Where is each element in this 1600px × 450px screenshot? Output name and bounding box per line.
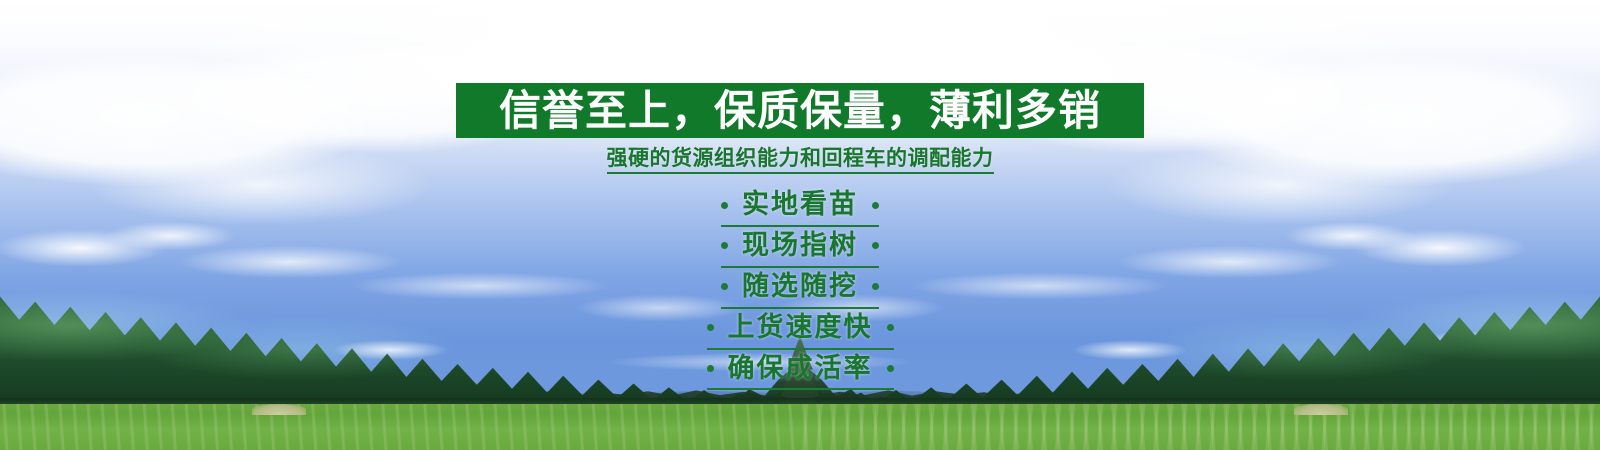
bullet-dot-icon bbox=[721, 283, 728, 290]
bullet-dot-icon bbox=[707, 365, 714, 372]
feature-list: 实地看苗 现场指树 随选随挖 上货速度快 确保成活率 bbox=[707, 186, 894, 390]
promo-banner: 信誉至上，保质保量，薄利多销 强硬的货源组织能力和回程车的调配能力 实地看苗 现… bbox=[0, 0, 1600, 450]
bullet-dot-icon bbox=[872, 283, 879, 290]
bullet-dot-icon bbox=[872, 202, 879, 209]
feature-item: 实地看苗 bbox=[721, 186, 879, 227]
headline-banner: 信誉至上，保质保量，薄利多销 bbox=[456, 83, 1144, 138]
bullet-dot-icon bbox=[872, 242, 879, 249]
bullet-dot-icon bbox=[721, 202, 728, 209]
bullet-dot-icon bbox=[887, 365, 894, 372]
bullet-dot-icon bbox=[721, 242, 728, 249]
feature-item: 现场指树 bbox=[721, 227, 879, 268]
feature-label: 实地看苗 bbox=[742, 189, 858, 221]
headline-text: 信誉至上，保质保量，薄利多销 bbox=[499, 90, 1101, 132]
feature-label: 确保成活率 bbox=[728, 353, 873, 385]
bullet-dot-icon bbox=[707, 324, 714, 331]
subtitle-underline-wrap: 强硬的货源组织能力和回程车的调配能力 bbox=[607, 147, 994, 174]
feature-label: 上货速度快 bbox=[728, 312, 873, 344]
subtitle-text: 强硬的货源组织能力和回程车的调配能力 bbox=[607, 147, 994, 170]
feature-label: 现场指树 bbox=[742, 230, 858, 262]
feature-label: 随选随挖 bbox=[742, 271, 858, 303]
bullet-dot-icon bbox=[887, 324, 894, 331]
feature-item: 随选随挖 bbox=[721, 268, 879, 309]
feature-item: 确保成活率 bbox=[707, 350, 894, 391]
feature-item: 上货速度快 bbox=[707, 309, 894, 350]
banner-content: 信誉至上，保质保量，薄利多销 强硬的货源组织能力和回程车的调配能力 实地看苗 现… bbox=[0, 0, 1600, 450]
